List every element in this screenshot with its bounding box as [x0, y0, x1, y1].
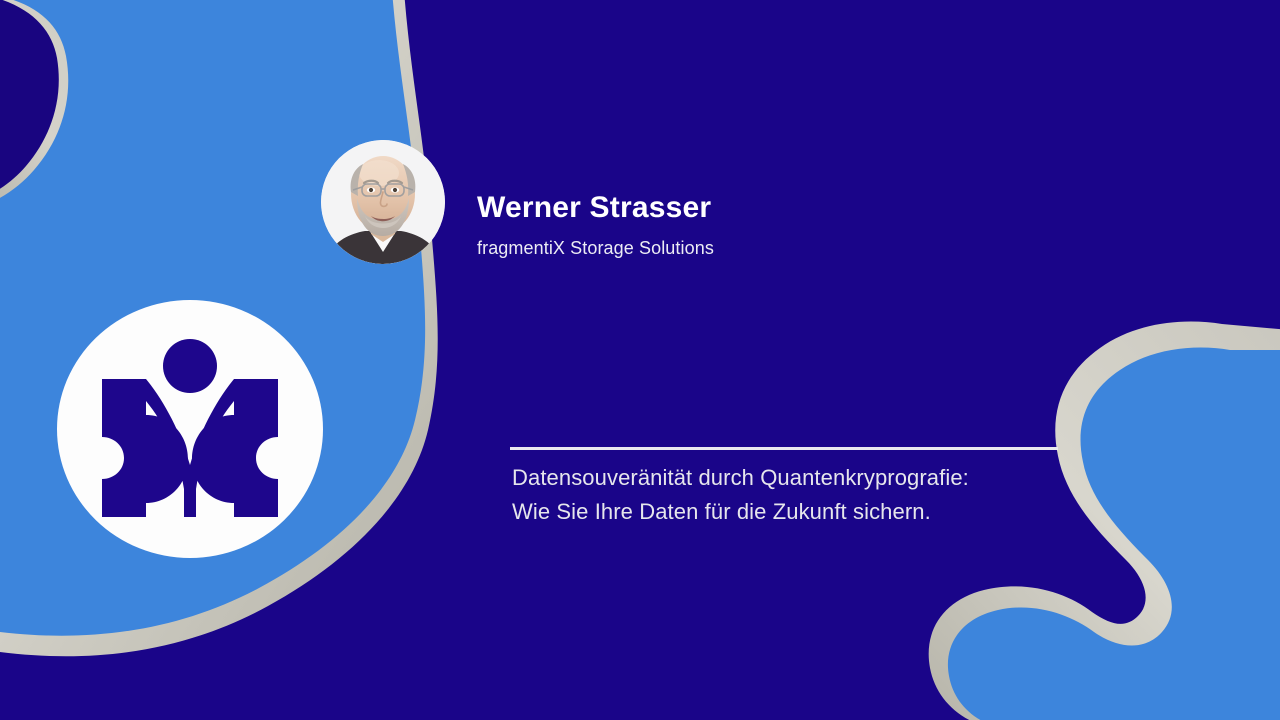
talk-title-line-2: Wie Sie Ihre Daten für die Zukunft siche…: [512, 495, 1112, 529]
avatar: [321, 140, 445, 264]
title-divider: [510, 447, 1058, 450]
talk-title: Datensouveränität durch Quantenkryprogra…: [512, 461, 1112, 529]
talk-title-line-1: Datensouveränität durch Quantenkryprogra…: [512, 461, 1112, 495]
talk-title-slide: Werner Strasser fragmentiX Storage Solut…: [0, 0, 1280, 720]
fragmentix-logo-badge: [57, 300, 323, 558]
speaker-name: Werner Strasser: [477, 191, 711, 225]
fragmentix-logo-icon: [92, 339, 288, 519]
speaker-portrait-photo: [321, 140, 445, 264]
speaker-organization: fragmentiX Storage Solutions: [477, 238, 714, 259]
